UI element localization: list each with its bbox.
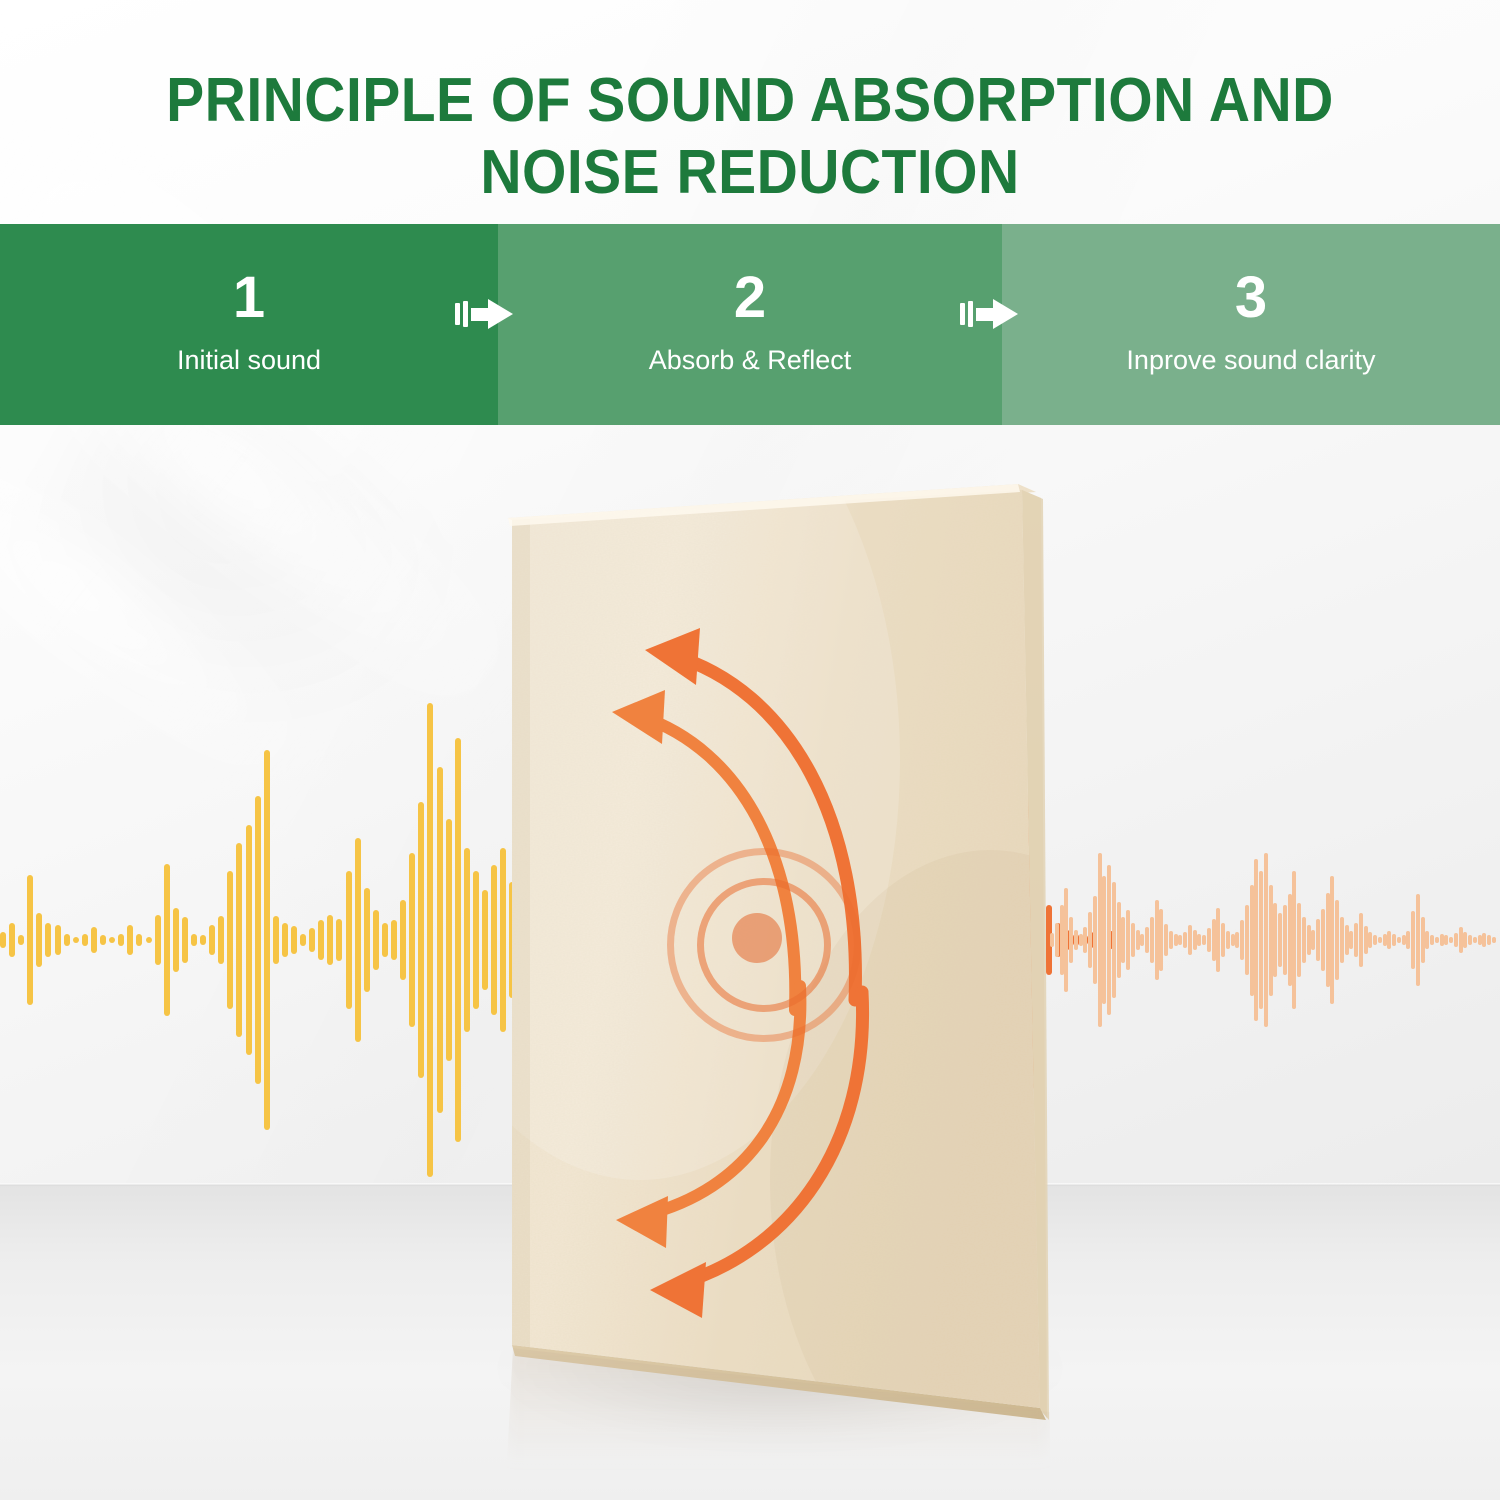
waveform-bar <box>1368 932 1372 948</box>
waveform-bar <box>1302 917 1306 963</box>
waveform-bar <box>1392 934 1396 946</box>
waveform-bar <box>1292 871 1296 1010</box>
waveform-bar <box>1259 871 1263 1010</box>
waveform-bar <box>1074 930 1078 951</box>
waveform-bar <box>1387 931 1391 950</box>
waveform-bar <box>1235 932 1239 948</box>
waveform-bar <box>1454 933 1458 947</box>
waveform-bar <box>1183 932 1187 948</box>
waveform-bar <box>1373 935 1377 944</box>
acoustic-panel-group <box>0 0 1500 1500</box>
waveform-bar <box>1297 903 1301 977</box>
waveform-bar <box>1406 931 1410 950</box>
sound-source-dot <box>732 913 782 963</box>
waveform-bar <box>1425 931 1429 950</box>
waveform-bar <box>1221 923 1225 958</box>
waveform-bar <box>1378 937 1382 944</box>
waveform-bar <box>1164 924 1168 956</box>
waveform-bar <box>1326 893 1330 988</box>
waveform-bar <box>1430 935 1434 944</box>
waveform-bar <box>1492 937 1496 944</box>
waveform-bar <box>1098 853 1102 1026</box>
waveform-bar <box>1102 876 1106 1003</box>
waveform-bar <box>1307 925 1311 955</box>
waveform-bar <box>1055 923 1059 958</box>
waveform-bar <box>1112 882 1116 998</box>
waveform-bar <box>1278 913 1282 966</box>
waveform-bar <box>1064 888 1068 992</box>
waveform-bar <box>1269 885 1273 996</box>
waveform-bar <box>1083 927 1087 952</box>
waveform-bar <box>1050 933 1054 947</box>
waveform-bar <box>1383 934 1387 946</box>
waveform-bar <box>1364 926 1368 954</box>
waveform-bar <box>1150 917 1154 963</box>
waveform-bar <box>1349 931 1353 950</box>
arrow-head <box>471 299 515 329</box>
acoustic-panel-svg <box>0 0 1500 1500</box>
reflect-arrowhead-down-inner <box>616 1196 668 1248</box>
waveform-bar <box>1145 927 1149 952</box>
waveform-bar <box>1155 900 1159 981</box>
waveform-bar <box>1169 931 1173 950</box>
waveform-bar <box>1107 865 1111 1015</box>
waveform-bar <box>1459 927 1463 952</box>
waveform-bar <box>1126 910 1130 970</box>
waveform-bar <box>1178 935 1182 944</box>
waveform-bar <box>1487 935 1491 944</box>
waveform-bar <box>1193 930 1197 951</box>
waveform-bar <box>1421 917 1425 963</box>
reflect-arrowhead-up-outer <box>645 628 700 685</box>
waveform-bar <box>1264 853 1268 1026</box>
waveform-bar <box>1449 937 1453 944</box>
fast-forward-arrow-icon <box>960 292 1026 336</box>
waveform-bar <box>1354 923 1358 958</box>
waveform-bar <box>1245 905 1249 974</box>
arrow-tick <box>968 301 973 327</box>
waveform-bar <box>1159 909 1163 971</box>
waveform-bar <box>1463 932 1467 948</box>
waveform-bar <box>1482 933 1486 947</box>
waveform-bar <box>1444 935 1448 944</box>
outgoing-sound-waveform <box>1050 840 1497 1040</box>
waveform-bar <box>1174 934 1178 946</box>
waveform-bar <box>1079 934 1083 946</box>
waveform-bar <box>1121 917 1125 963</box>
waveform-bar <box>1088 912 1092 968</box>
waveform-bar <box>1216 908 1220 973</box>
waveform-bar <box>1402 935 1406 944</box>
waveform-bar <box>1060 905 1064 974</box>
waveform-bar <box>1340 917 1344 963</box>
waveform-bar <box>1131 923 1135 958</box>
arrow-tick <box>960 303 965 325</box>
waveform-bar <box>1283 905 1287 974</box>
waveform-bar <box>1440 934 1444 946</box>
arrow-head <box>976 299 1020 329</box>
waveform-bar <box>1321 909 1325 971</box>
waveform-bar <box>1254 859 1258 1021</box>
waveform-bar <box>1240 920 1244 959</box>
waveform-bar <box>1311 930 1315 951</box>
waveform-bar <box>1316 919 1320 961</box>
waveform-bar <box>1069 917 1073 963</box>
waveform-bar <box>1140 934 1144 946</box>
waveform-bar <box>1397 937 1401 944</box>
waveform-bar <box>1435 937 1439 944</box>
waveform-bar <box>1335 900 1339 981</box>
waveform-bar <box>1330 876 1334 1003</box>
waveform-bar <box>1273 903 1277 977</box>
arrow-tick <box>455 303 460 325</box>
waveform-bar <box>1411 911 1415 969</box>
waveform-bar <box>1478 935 1482 944</box>
waveform-bar <box>1188 925 1192 955</box>
waveform-bar <box>1250 885 1254 996</box>
waveform-bar <box>1288 894 1292 987</box>
waveform-bar <box>1226 931 1230 950</box>
waveform-bar <box>1416 894 1420 987</box>
waveform-bar <box>1202 935 1206 944</box>
waveform-bar <box>1136 930 1140 951</box>
infographic-canvas: PRINCIPLE OF SOUND ABSORPTION AND NOISE … <box>0 0 1500 1500</box>
reflect-arrowhead-down-outer <box>650 1262 706 1318</box>
waveform-bar <box>1207 928 1211 951</box>
waveform-bar <box>1197 934 1201 946</box>
arrow-tick <box>463 301 468 327</box>
waveform-bar <box>1212 919 1216 961</box>
waveform-bar <box>1345 925 1349 955</box>
reflect-arrowhead-up-inner <box>612 690 665 744</box>
waveform-bar <box>1468 935 1472 944</box>
waveform-bar <box>1231 934 1235 946</box>
fast-forward-arrow-icon <box>455 292 521 336</box>
waveform-bar <box>1473 937 1477 944</box>
waveform-bar <box>1093 896 1097 984</box>
waveform-bar <box>1117 902 1121 978</box>
waveform-bar <box>1359 913 1363 966</box>
